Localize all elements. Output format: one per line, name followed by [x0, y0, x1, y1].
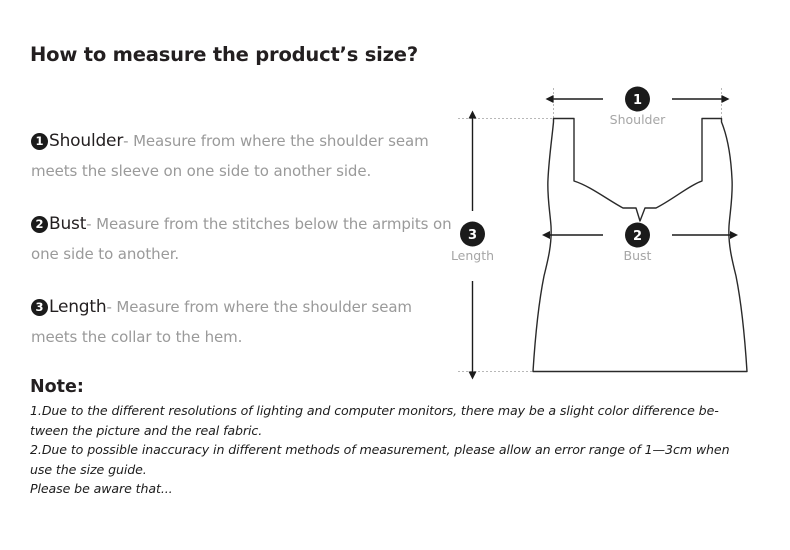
- number-badge-1: 1: [31, 133, 48, 150]
- diagram-badge-3-number: 3: [468, 228, 477, 243]
- diagram-badge-2-number: 2: [633, 229, 642, 244]
- list-item: 1Shoulder- Measure from where the should…: [31, 126, 456, 186]
- annotation-length: 3 Length: [451, 119, 494, 372]
- note-line: 2.Due to possible inaccuracy in differen…: [30, 440, 770, 460]
- number-badge-2: 2: [31, 216, 48, 233]
- measurement-term-shoulder: Shoulder: [49, 131, 123, 151]
- diagram-badge-1-number: 1: [633, 93, 642, 108]
- diagram-label-length: Length: [451, 248, 494, 263]
- diagram-label-bust: Bust: [624, 248, 652, 263]
- annotation-shoulder: 1 Shoulder: [554, 87, 722, 128]
- note-heading: Note:: [30, 377, 84, 397]
- note-line: Please be aware that...: [30, 479, 770, 499]
- page-title: How to measure the product’s size?: [30, 43, 418, 66]
- note-line: use the size guide.: [30, 460, 770, 480]
- number-badge-3: 3: [31, 299, 48, 316]
- diagram-label-shoulder: Shoulder: [610, 112, 667, 127]
- list-item: 3Length- Measure from where the shoulder…: [31, 292, 456, 352]
- measurement-list: 1Shoulder- Measure from where the should…: [31, 126, 456, 375]
- note-line: 1.Due to the different resolutions of li…: [30, 401, 770, 421]
- list-item: 2Bust- Measure from the stitches below t…: [31, 209, 456, 269]
- size-guide-page: How to measure the product’s size? 1Shou…: [0, 0, 790, 550]
- note-body: 1.Due to the different resolutions of li…: [30, 401, 770, 499]
- measurement-description-bust: - Measure from the stitches below the ar…: [31, 215, 452, 263]
- measurement-term-bust: Bust: [49, 214, 86, 234]
- garment-measurement-diagram: 1 Shoulder 2 Bust 3 Length: [440, 78, 790, 388]
- measurement-term-length: Length: [49, 297, 106, 317]
- note-line: tween the picture and the real fabric.: [30, 421, 770, 441]
